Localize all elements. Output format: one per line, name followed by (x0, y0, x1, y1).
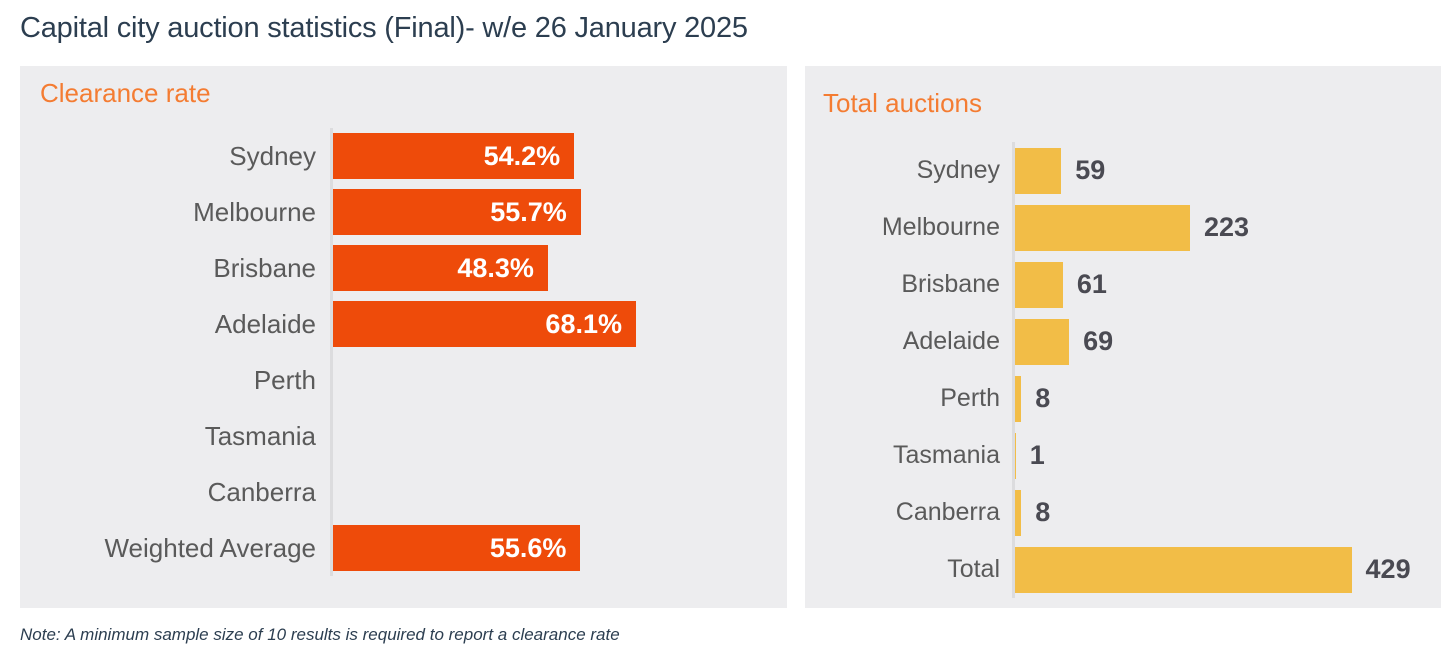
category-label-weighted-average: Weighted Average (20, 533, 330, 564)
category-label-sydney: Sydney (20, 141, 330, 172)
bar-value-total: 429 (1352, 554, 1411, 585)
bar-track: 55.7% (330, 184, 787, 240)
total-auctions-chart: Sydney59Melbourne223Brisbane61Adelaide69… (805, 142, 1441, 598)
category-label-brisbane: Brisbane (20, 253, 330, 284)
bar-value-sydney: 59 (1061, 155, 1105, 186)
category-label-sydney: Sydney (805, 156, 1012, 185)
footnote-note: Note: A minimum sample size of 10 result… (20, 625, 620, 645)
chart-row: Brisbane48.3% (20, 240, 787, 296)
category-label-melbourne: Melbourne (20, 197, 330, 228)
category-label-total: Total (805, 555, 1012, 584)
chart-row: Total429 (805, 541, 1441, 598)
total-auctions-panel: Total auctions Sydney59Melbourne223Brisb… (805, 66, 1441, 608)
bar-track: 55.6% (330, 520, 787, 576)
bar-track: 61 (1012, 256, 1441, 313)
chart-row: Melbourne223 (805, 199, 1441, 256)
chart-row: Perth (20, 352, 787, 408)
bar-track (330, 464, 787, 520)
bar-value-weighted-average: 55.6% (490, 533, 567, 564)
chart-row: Canberra8 (805, 484, 1441, 541)
bar-track: 1 (1012, 427, 1441, 484)
total-auctions-panel-title: Total auctions (823, 88, 982, 119)
bar-track: 8 (1012, 370, 1441, 427)
bar-value-perth: 8 (1021, 383, 1050, 414)
chart-row: Tasmania1 (805, 427, 1441, 484)
bar-track (330, 352, 787, 408)
category-label-canberra: Canberra (805, 498, 1012, 527)
category-label-perth: Perth (805, 384, 1012, 413)
bar-track (330, 408, 787, 464)
bar-track: 68.1% (330, 296, 787, 352)
clearance-rate-panel: Clearance rate Sydney54.2%Melbourne55.7%… (20, 66, 787, 608)
bar-value-tasmania: 1 (1016, 440, 1045, 471)
bar-adelaide[interactable] (1015, 319, 1069, 365)
bar-sydney[interactable] (1015, 148, 1061, 194)
bar-value-melbourne: 223 (1190, 212, 1249, 243)
chart-row: Tasmania (20, 408, 787, 464)
chart-row: Sydney59 (805, 142, 1441, 199)
bar-value-melbourne: 55.7% (490, 197, 567, 228)
bar-track: 69 (1012, 313, 1441, 370)
chart-row: Adelaide68.1% (20, 296, 787, 352)
bar-track: 8 (1012, 484, 1441, 541)
bar-brisbane[interactable] (1015, 262, 1063, 308)
bar-value-canberra: 8 (1021, 497, 1050, 528)
bar-track: 48.3% (330, 240, 787, 296)
bar-melbourne[interactable] (1015, 205, 1190, 251)
chart-row: Weighted Average55.6% (20, 520, 787, 576)
category-label-adelaide: Adelaide (20, 309, 330, 340)
clearance-rate-panel-title: Clearance rate (40, 78, 211, 109)
bar-track: 59 (1012, 142, 1441, 199)
category-label-melbourne: Melbourne (805, 213, 1012, 242)
bar-melbourne[interactable]: 55.7% (333, 189, 581, 235)
bar-value-brisbane: 61 (1063, 269, 1107, 300)
category-label-tasmania: Tasmania (20, 421, 330, 452)
chart-row: Sydney54.2% (20, 128, 787, 184)
bar-value-adelaide: 69 (1069, 326, 1113, 357)
bar-track: 54.2% (330, 128, 787, 184)
chart-row: Perth8 (805, 370, 1441, 427)
category-label-canberra: Canberra (20, 477, 330, 508)
chart-row: Brisbane61 (805, 256, 1441, 313)
chart-row: Melbourne55.7% (20, 184, 787, 240)
bar-track: 429 (1012, 541, 1441, 598)
chart-row: Adelaide69 (805, 313, 1441, 370)
bar-value-sydney: 54.2% (484, 141, 561, 172)
bar-brisbane[interactable]: 48.3% (333, 245, 548, 291)
chart-row: Canberra (20, 464, 787, 520)
bar-adelaide[interactable]: 68.1% (333, 301, 636, 347)
bar-value-adelaide: 68.1% (545, 309, 622, 340)
bar-sydney[interactable]: 54.2% (333, 133, 574, 179)
clearance-rate-chart: Sydney54.2%Melbourne55.7%Brisbane48.3%Ad… (20, 128, 787, 598)
category-label-tasmania: Tasmania (805, 441, 1012, 470)
bar-weighted-average[interactable]: 55.6% (333, 525, 580, 571)
bar-total[interactable] (1015, 547, 1352, 593)
bar-value-brisbane: 48.3% (457, 253, 534, 284)
category-label-adelaide: Adelaide (805, 327, 1012, 356)
category-label-perth: Perth (20, 365, 330, 396)
category-label-brisbane: Brisbane (805, 270, 1012, 299)
page-title: Capital city auction statistics (Final)-… (20, 12, 748, 45)
bar-track: 223 (1012, 199, 1441, 256)
